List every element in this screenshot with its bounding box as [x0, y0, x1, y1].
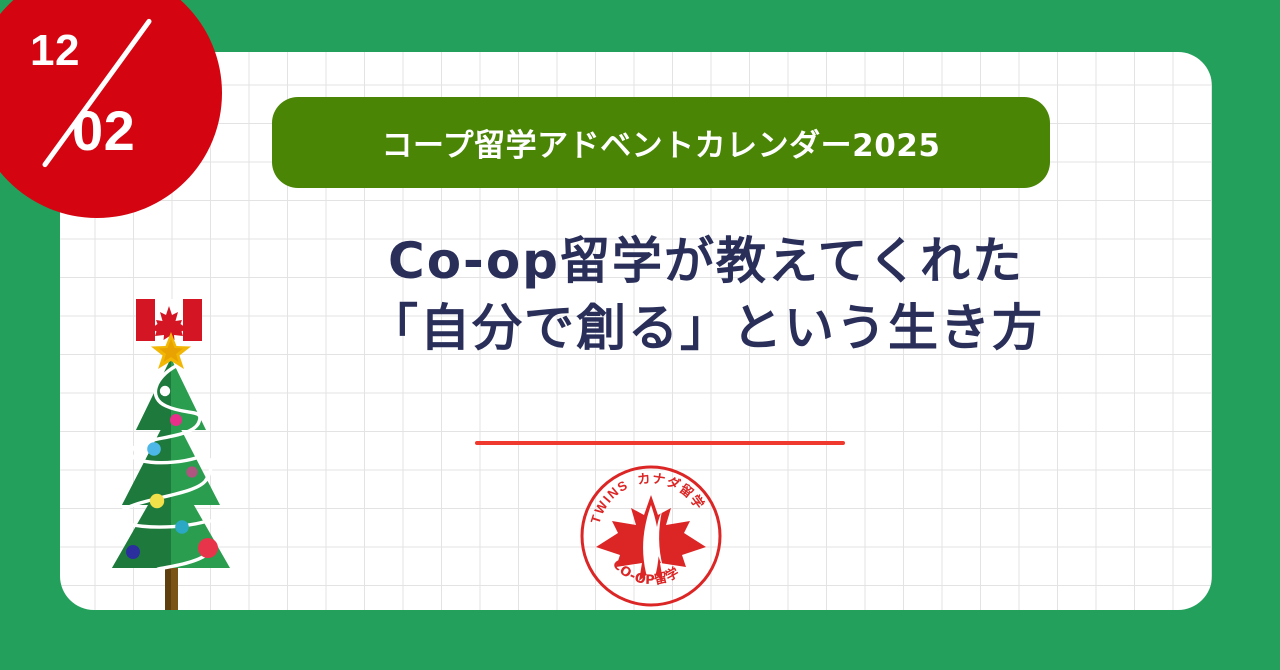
page-title: Co-op留学が教えてくれた 「自分で創る」という生き方	[286, 228, 1126, 361]
headline-line-2: 「自分で創る」という生き方	[286, 295, 1126, 362]
twins-coop-logo: TWINS カナダ留学 CO-OP留学	[578, 463, 724, 609]
ornament	[170, 414, 182, 426]
slide-canvas: 12 02 コープ留学アドベントカレンダー2025 Co-op留学が教えてくれた…	[0, 0, 1280, 670]
calendar-banner-label: コープ留学アドベントカレンダー2025	[382, 120, 941, 165]
date-day: 02	[72, 98, 135, 163]
ornament	[126, 545, 140, 559]
logo-arc-left: TWINS	[588, 477, 631, 525]
title-divider	[475, 441, 845, 445]
date-month: 12	[30, 26, 80, 76]
christmas-tree-illustration	[110, 290, 285, 610]
calendar-banner: コープ留学アドベントカレンダー2025	[272, 97, 1050, 188]
ornament	[198, 538, 218, 558]
headline-line-1: Co-op留学が教えてくれた	[286, 228, 1126, 295]
ornament	[150, 494, 164, 508]
canada-flag-icon	[136, 299, 202, 341]
ornament	[147, 442, 161, 456]
ornament	[186, 466, 197, 477]
svg-text:TWINS: TWINS	[588, 477, 631, 525]
ornament	[175, 520, 189, 534]
ornament	[160, 386, 170, 396]
